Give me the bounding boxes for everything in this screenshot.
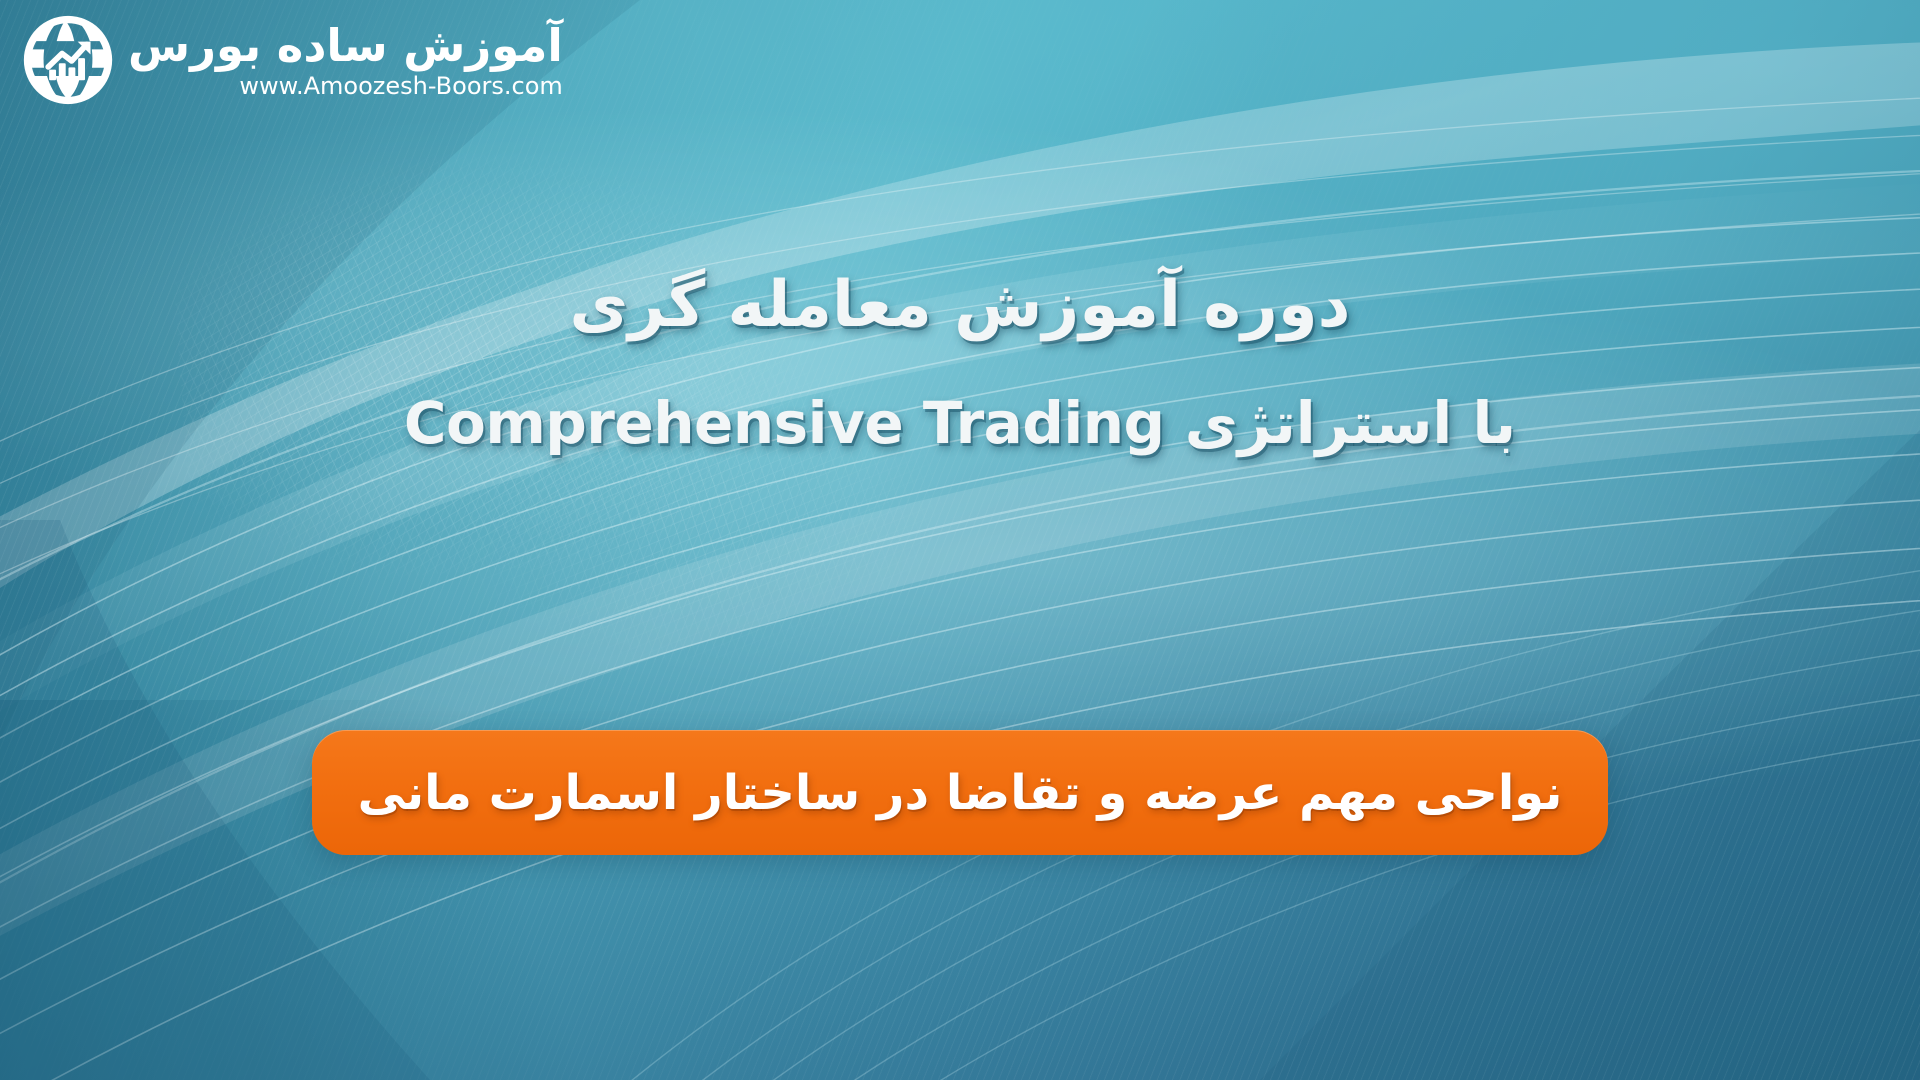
brand-name: آموزش ساده بورس <box>128 23 563 68</box>
brand-logo[interactable]: آموزش ساده بورس www.Amoozesh-Boors.com <box>22 14 563 106</box>
cta-wrapper: نواحی مهم عرضه و تقاضا در ساختار اسمارت … <box>0 730 1920 855</box>
brand-website[interactable]: www.Amoozesh-Boors.com <box>239 74 562 98</box>
course-banner: آموزش ساده بورس www.Amoozesh-Boors.com د… <box>0 0 1920 1080</box>
headline-block: دوره آموزش معامله گری با استراتژی Compre… <box>0 268 1920 458</box>
headline-line-1: دوره آموزش معامله گری <box>0 268 1920 344</box>
headline-line-2-prefix: با استراتژی <box>1185 389 1516 457</box>
globe-growth-chart-icon <box>22 14 114 106</box>
headline-line-2: با استراتژی Comprehensive Trading <box>0 388 1920 459</box>
headline-strategy-name: Comprehensive Trading <box>404 389 1165 457</box>
cta-button[interactable]: نواحی مهم عرضه و تقاضا در ساختار اسمارت … <box>312 730 1609 855</box>
cta-button-label: نواحی مهم عرضه و تقاضا در ساختار اسمارت … <box>358 765 1563 821</box>
